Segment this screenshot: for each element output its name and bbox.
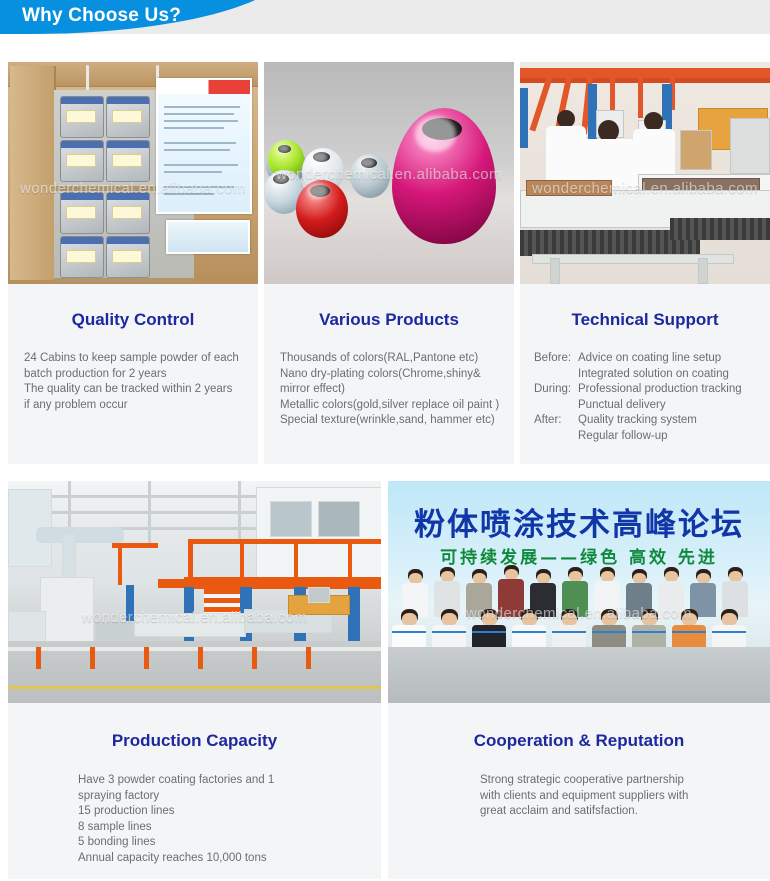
text-line: 15 production lines <box>78 804 381 820</box>
text-line: Annual capacity reaches 10,000 tons <box>78 851 381 867</box>
support-label: Before: <box>534 351 578 367</box>
photo-quality-control: wonderchemical.en.alibaba.com <box>8 62 258 284</box>
support-value: Quality tracking system <box>578 413 697 429</box>
text-line: Metallic colors(gold,silver replace oil … <box>280 398 514 414</box>
card-title-various-products: Various Products <box>264 310 514 330</box>
card-body-various-products: Thousands of colors(RAL,Pantone etc) Nan… <box>280 351 514 429</box>
text-line: mirror effect) <box>280 382 514 398</box>
text-line: if any problem occur <box>24 398 258 414</box>
support-value: Regular follow-up <box>578 429 668 445</box>
text-line: 8 sample lines <box>78 820 381 836</box>
forum-banner-title: 粉体喷涂技术高峰论坛 <box>388 499 770 544</box>
forum-banner-subtitle: 可持续发展——绿色 高效 先进 <box>388 543 770 568</box>
card-quality-control: wonderchemical.en.alibaba.com Quality Co… <box>8 62 258 464</box>
card-title-technical-support: Technical Support <box>520 310 770 330</box>
support-label <box>534 367 578 383</box>
text-line: Have 3 powder coating factories and 1 <box>78 773 381 789</box>
support-label: After: <box>534 413 578 429</box>
card-title-quality-control: Quality Control <box>8 310 258 330</box>
support-label <box>534 429 578 445</box>
text-line: batch production for 2 years <box>24 367 258 383</box>
page-title: Why Choose Us? <box>22 5 181 27</box>
support-label <box>534 398 578 414</box>
support-value: Professional production tracking <box>578 382 742 398</box>
text-line: spraying factory <box>78 789 381 805</box>
card-technical-support: wonderchemical.en.alibaba.com Technical … <box>520 62 770 464</box>
support-label: During: <box>534 382 578 398</box>
card-body-cooperation-reputation: Strong strategic cooperative partnership… <box>480 773 770 820</box>
support-value: Integrated solution on coating <box>578 367 729 383</box>
support-row: Regular follow-up <box>534 429 770 445</box>
text-line: with clients and equipment suppliers wit… <box>480 789 770 805</box>
text-line: Strong strategic cooperative partnership <box>480 773 770 789</box>
text-line: Special texture(wrinkle,sand, hammer etc… <box>280 413 514 429</box>
photo-cooperation-reputation: 粉体喷涂技术高峰论坛 可持续发展——绿色 高效 先进 <box>388 481 770 703</box>
card-production-capacity: wonderchemical.en.alibaba.com Production… <box>8 481 381 879</box>
card-cooperation-reputation: 粉体喷涂技术高峰论坛 可持续发展——绿色 高效 先进 <box>388 481 770 879</box>
support-row: During: Professional production tracking <box>534 382 770 398</box>
photo-production-capacity: wonderchemical.en.alibaba.com <box>8 481 381 703</box>
why-choose-us-page: Why Choose Us? <box>0 0 770 881</box>
card-various-products: wonderchemical.en.alibaba.com Various Pr… <box>264 62 514 464</box>
support-value: Punctual delivery <box>578 398 666 414</box>
photo-various-products: wonderchemical.en.alibaba.com <box>264 62 514 284</box>
support-value: Advice on coating line setup <box>578 351 721 367</box>
text-line: 5 bonding lines <box>78 835 381 851</box>
support-row: Integrated solution on coating <box>534 367 770 383</box>
support-row: Before: Advice on coating line setup <box>534 351 770 367</box>
card-body-technical-support: Before: Advice on coating line setup Int… <box>534 351 770 444</box>
support-row: After: Quality tracking system <box>534 413 770 429</box>
text-line: The quality can be tracked within 2 year… <box>24 382 258 398</box>
text-line: Thousands of colors(RAL,Pantone etc) <box>280 351 514 367</box>
support-row: Punctual delivery <box>534 398 770 414</box>
card-title-production-capacity: Production Capacity <box>8 731 381 751</box>
card-body-production-capacity: Have 3 powder coating factories and 1 sp… <box>78 773 381 866</box>
text-line: great acclaim and satifsfaction. <box>480 804 770 820</box>
card-body-quality-control: 24 Cabins to keep sample powder of each … <box>24 351 258 413</box>
card-title-cooperation-reputation: Cooperation & Reputation <box>388 731 770 751</box>
photo-technical-support: wonderchemical.en.alibaba.com <box>520 62 770 284</box>
text-line: 24 Cabins to keep sample powder of each <box>24 351 258 367</box>
text-line: Nano dry-plating colors(Chrome,shiny& <box>280 367 514 383</box>
